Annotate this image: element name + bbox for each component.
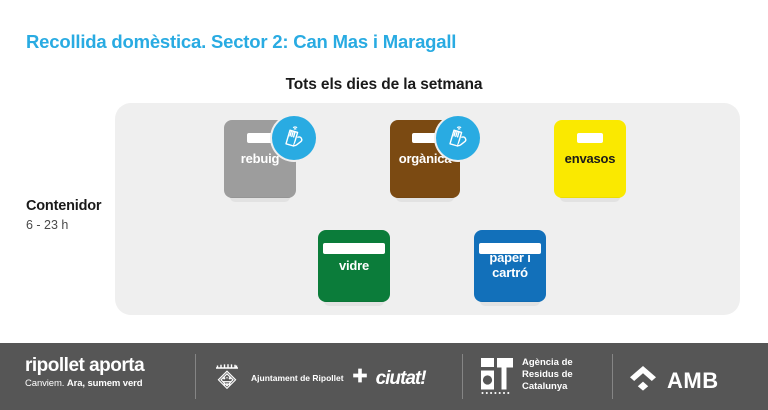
bin-slot-icon <box>577 133 603 143</box>
arc-line-2: Residus de <box>522 369 573 380</box>
bin-base <box>480 301 540 306</box>
bin-label: rebuig <box>237 152 284 167</box>
footer-divider <box>195 354 196 399</box>
amb-chevron-icon <box>628 363 658 398</box>
bin-label-line2: cartró <box>492 265 528 280</box>
hand-holding-nfc-card-icon <box>281 125 307 151</box>
logo-ripollet-tagline: Canviem. Ara, sumem verd <box>25 379 144 389</box>
bin-slot-icon <box>247 133 273 143</box>
footer-divider <box>612 354 613 399</box>
hand-holding-nfc-card-icon <box>445 125 471 151</box>
logo-ajuntament-text: Ajuntament de Ripollet <box>251 373 344 383</box>
schedule-subtitle: Tots els dies de la setmana <box>0 76 768 94</box>
bin-base <box>230 197 290 202</box>
bin-slot-icon <box>412 133 438 143</box>
card-reader-badge-organica[interactable] <box>436 116 480 160</box>
bin-envasos[interactable]: envasos <box>554 120 626 198</box>
plus-icon <box>351 367 369 390</box>
logo-ripollet-aporta[interactable]: ripollet aporta Canviem. Ara, sumem verd <box>25 356 144 389</box>
logo-ajuntament-ripollet[interactable]: Ajuntament de Ripollet ciutat! <box>210 361 426 395</box>
logo-amb-text: AMB <box>667 370 719 392</box>
logo-ripollet-name: ripollet aporta <box>25 356 144 375</box>
arc-line-3: Catalunya <box>522 381 567 392</box>
bin-label: paper i cartró <box>485 251 534 281</box>
footer-logo-bar: ripollet aporta Canviem. Ara, sumem verd <box>0 343 768 410</box>
logo-arc-text: Agència de Residus de Catalunya <box>522 357 573 393</box>
logo-agencia-residus-catalunya[interactable]: Agència de Residus de Catalunya <box>480 357 573 395</box>
tagline-bold: Ara, sumem verd <box>67 378 143 389</box>
tagline-regular: Canviem. <box>25 378 64 389</box>
footer-divider <box>462 354 463 399</box>
bin-slot-icon <box>323 243 385 254</box>
arc-square-mark-icon <box>480 357 514 395</box>
logo-amb[interactable]: AMB <box>628 363 719 398</box>
bin-paper-i-cartro[interactable]: paper i cartró <box>474 230 546 302</box>
bin-base <box>396 197 455 202</box>
bin-slot-icon <box>479 243 541 254</box>
card-reader-badge-rebuig[interactable] <box>272 116 316 160</box>
bin-vidre[interactable]: vidre <box>318 230 390 302</box>
arc-line-1: Agència de <box>522 357 573 368</box>
bin-label: vidre <box>335 259 373 274</box>
bin-base <box>324 301 384 306</box>
bin-label: envasos <box>561 152 620 167</box>
ripollet-coat-of-arms-icon <box>210 361 244 395</box>
logo-ciutat-wordmark: ciutat! <box>376 369 426 388</box>
page-title: Recollida domèstica. Sector 2: Can Mas i… <box>26 31 456 53</box>
bin-base <box>560 197 620 202</box>
